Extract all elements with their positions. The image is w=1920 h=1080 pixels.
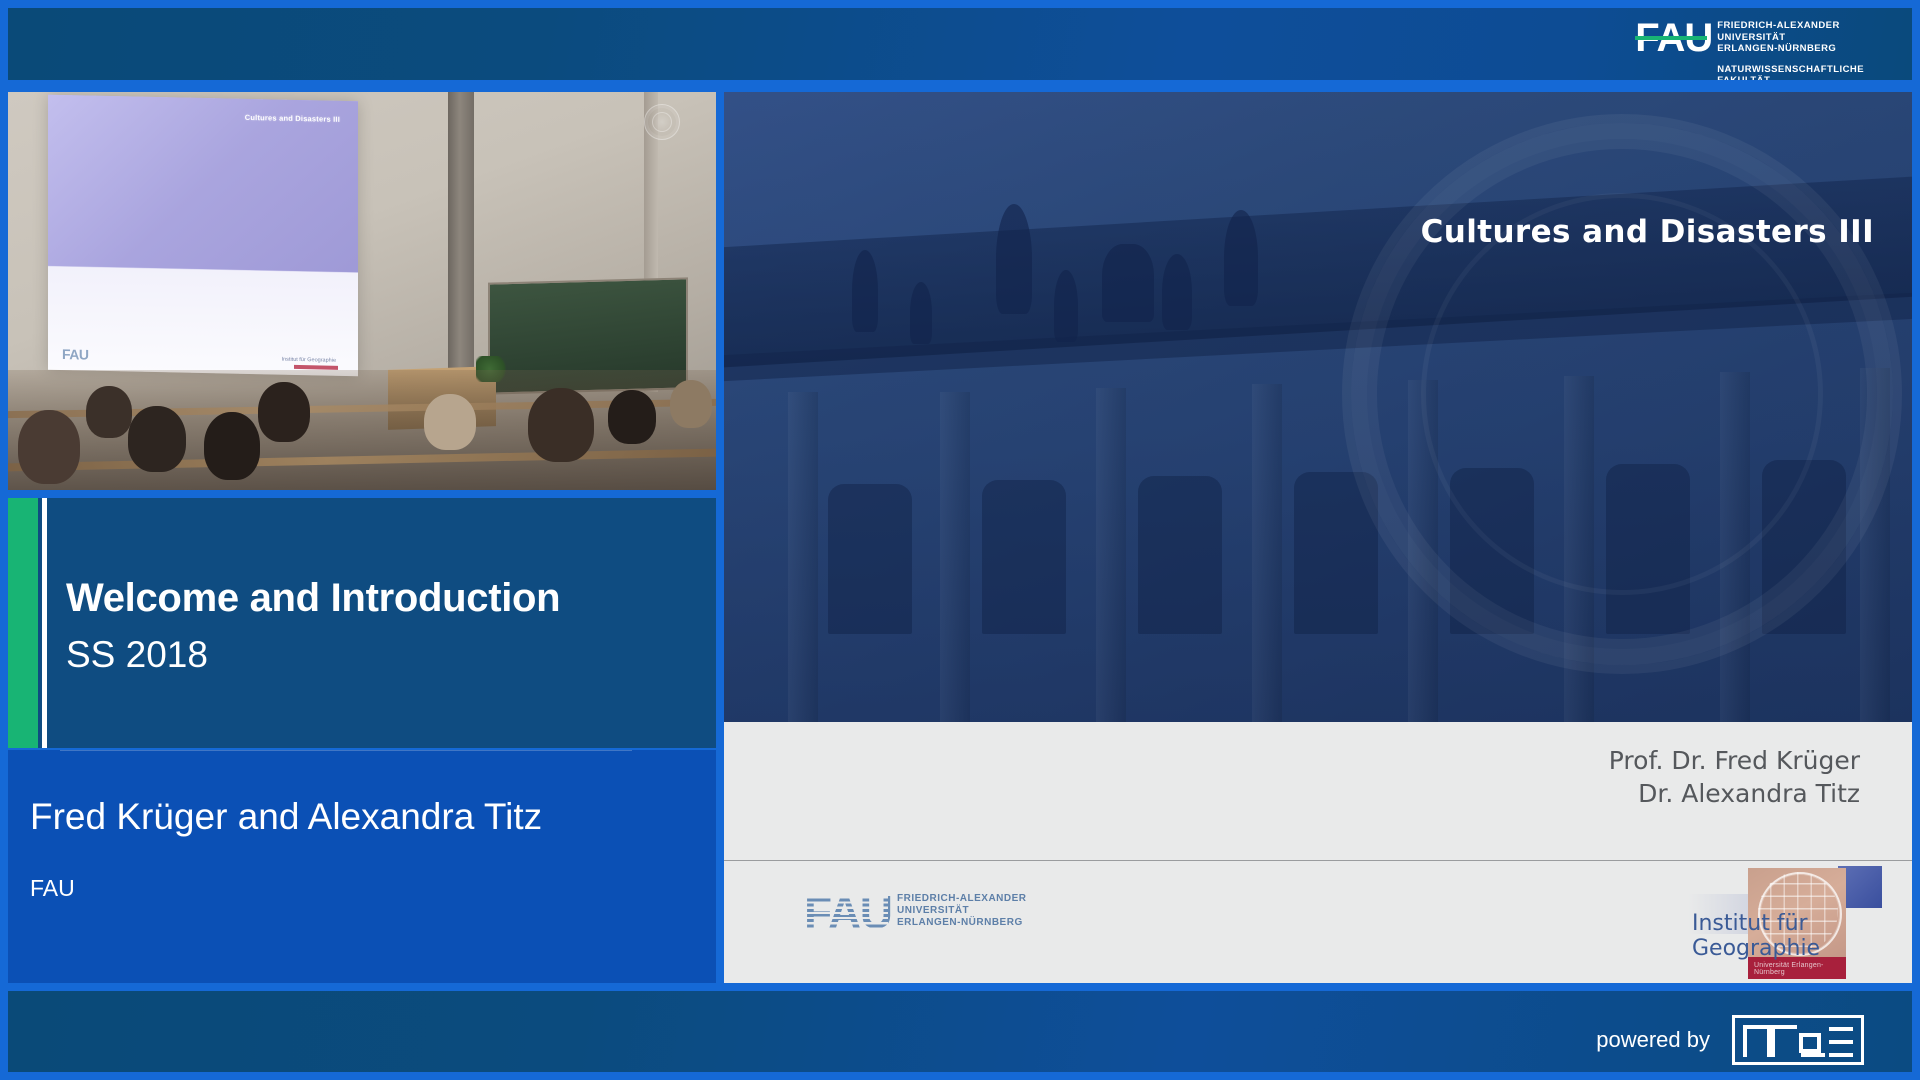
- projected-slide-institute: Institut für Geographie: [282, 357, 336, 364]
- video-audience-head: [128, 406, 186, 472]
- slide-horizontal-rule: [724, 860, 1912, 861]
- building-column: [1096, 388, 1126, 722]
- left-column: Cultures and Disasters III FAU Institut …: [8, 92, 716, 983]
- slide-footer-panel: Prof. Dr. Fred Krüger Dr. Alexandra Titz…: [724, 722, 1912, 983]
- roof-statue: [1102, 244, 1154, 322]
- roof-statue: [1162, 254, 1192, 330]
- presenter-organization: FAU: [30, 875, 75, 902]
- rrze-logo-glyph: [1743, 1025, 1855, 1059]
- building-window: [982, 480, 1066, 634]
- header-faculty-line1: NATURWISSENSCHAFTLICHE: [1717, 64, 1864, 76]
- fau-header-wordmark: FRIEDRICH-ALEXANDER UNIVERSITÄT ERLANGEN…: [1717, 17, 1864, 80]
- slide-presenter-list: Prof. Dr. Fred Krüger Dr. Alexandra Titz: [1609, 744, 1860, 810]
- slide-presenter-2: Dr. Alexandra Titz: [1609, 777, 1860, 810]
- fau-header-logo: FAU FRIEDRICH-ALEXANDER UNIVERSITÄT ERLA…: [1635, 17, 1864, 80]
- header-bar: FAU FRIEDRICH-ALEXANDER UNIVERSITÄT ERLA…: [8, 8, 1912, 80]
- video-audience-head: [670, 380, 712, 428]
- fau-logo-green-bar: [1635, 36, 1707, 40]
- roof-statue: [996, 204, 1032, 314]
- projected-slide-names: [336, 288, 338, 296]
- roof-statue: [1054, 270, 1078, 342]
- lecture-hall-video[interactable]: Cultures and Disasters III FAU Institut …: [8, 92, 716, 490]
- slide-background-photo: [724, 92, 1912, 722]
- rrze-logo-icon: [1732, 1015, 1864, 1065]
- institute-name: Institut für Geographie: [1692, 911, 1882, 961]
- powered-by-label: powered by: [1596, 1027, 1710, 1053]
- fau-logo-icon: FAU: [1635, 17, 1707, 59]
- roof-statue: [1224, 210, 1258, 306]
- roof-statue: [852, 250, 878, 332]
- header-org-line3: ERLANGEN-NÜRNBERG: [1717, 43, 1864, 55]
- presenter-divider: [60, 750, 632, 751]
- institute-logo-banner-text: Universität Erlangen-Nürnberg: [1754, 962, 1846, 976]
- video-projection-screen: Cultures and Disasters III FAU Institut …: [48, 95, 358, 376]
- page-title: Welcome and Introduction: [66, 576, 560, 621]
- header-faculty-line2: FAKULTÄT: [1717, 75, 1864, 80]
- fau-wordmark: FRIEDRICH-ALEXANDER UNIVERSITÄT ERLANGEN…: [897, 888, 1027, 929]
- slide-fau-logo: FAU FRIEDRICH-ALEXANDER UNIVERSITÄT ERLA…: [804, 888, 1027, 936]
- fau-logo-letters: FAU: [804, 888, 888, 936]
- title-panel: Welcome and Introduction SS 2018: [8, 498, 716, 748]
- fau-logo-icon: FAU: [804, 888, 888, 936]
- video-audience-head: [204, 412, 260, 480]
- projected-slide-fau: FAU: [62, 346, 89, 363]
- header-org-line1: FRIEDRICH-ALEXANDER: [1717, 20, 1864, 32]
- slide-presenter-1: Prof. Dr. Fred Krüger: [1609, 744, 1860, 777]
- slide-view[interactable]: Cultures and Disasters III Prof. Dr. Fre…: [724, 92, 1912, 983]
- building-column: [940, 392, 970, 722]
- white-divider-bar: [42, 498, 47, 748]
- page-subtitle: SS 2018: [66, 634, 208, 676]
- building-window: [1138, 476, 1222, 634]
- university-seal-watermark-icon: [1342, 114, 1902, 674]
- video-audience-head: [608, 390, 656, 444]
- building-column: [788, 392, 818, 722]
- video-audience-head: [528, 388, 594, 462]
- slide-fau-line1: FRIEDRICH-ALEXANDER: [897, 893, 1027, 905]
- footer-bar: powered by: [8, 991, 1912, 1072]
- green-accent-bar: [8, 498, 38, 748]
- slide-fau-line3: ERLANGEN-NÜRNBERG: [897, 917, 1027, 929]
- presentation-player: FAU FRIEDRICH-ALEXANDER UNIVERSITÄT ERLA…: [0, 0, 1920, 1080]
- slide-fau-line2: UNIVERSITÄT: [897, 905, 1027, 917]
- roof-statue: [910, 282, 932, 344]
- building-window: [828, 484, 912, 634]
- presenter-panel: Fred Krüger and Alexandra Titz FAU: [8, 750, 716, 983]
- presenter-names: Fred Krüger and Alexandra Titz: [30, 796, 542, 838]
- powered-by-block: powered by: [1596, 1015, 1864, 1065]
- institute-logo: Universität Erlangen-Nürnberg Institut f…: [1692, 864, 1882, 979]
- slide-title: Cultures and Disasters III: [1421, 214, 1874, 250]
- video-audience-head: [424, 394, 476, 450]
- video-audience-head: [18, 410, 80, 484]
- building-column: [1252, 384, 1282, 722]
- video-audience-head: [258, 382, 310, 442]
- university-seal-watermark-icon: [644, 104, 680, 140]
- video-audience-head: [86, 386, 132, 438]
- header-org-line2: UNIVERSITÄT: [1717, 32, 1864, 44]
